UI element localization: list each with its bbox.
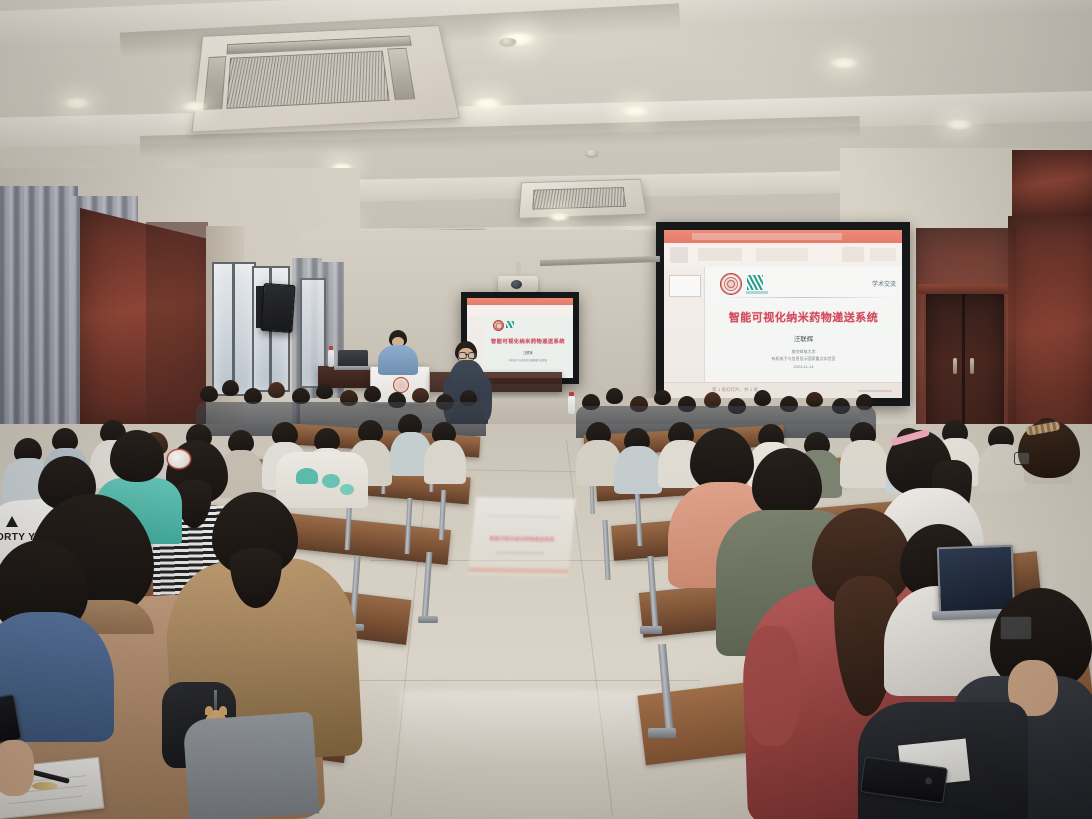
- downlight-3: [180, 100, 208, 113]
- main-projection-screen[interactable]: 学术交流 智能可视化纳米药物递送系统 汪联辉 南京邮电大学 有机电子与信息显示国…: [664, 230, 902, 398]
- ac-vane-top: [226, 36, 411, 55]
- side-table-bottle: [568, 396, 575, 414]
- side-slide-title: 智能可视化纳米药物递送系统: [483, 338, 573, 345]
- ac-grille-front: [226, 51, 389, 109]
- audience-red-sweater-arm: [744, 626, 800, 746]
- side-ppt-ribbon: [467, 298, 573, 305]
- lecture-hall-photo: 学术交流 智能可视化纳米药物递送系统 汪联辉 南京邮电大学 有机电子与信息显示国…: [0, 0, 1092, 819]
- print-shirt-graphic-1: [296, 468, 318, 484]
- downlight-6: [828, 56, 860, 70]
- phone-camera-icon: [925, 777, 933, 785]
- institute-logo-icon: [747, 275, 763, 290]
- standing-speaker-glasses-icon-2: [468, 352, 477, 359]
- charm-ear-right: [219, 706, 227, 715]
- audience-teal-girl-head: [110, 430, 164, 482]
- floor-gloss-highlight: [400, 690, 660, 770]
- downlight-2: [62, 96, 92, 110]
- reflection-subtext: [496, 552, 544, 554]
- audience-hair-scrunchie: [168, 450, 190, 468]
- gray-cloth-on-seat: [183, 712, 320, 819]
- projector-lens-icon: [511, 280, 522, 289]
- ppt-toolbar[interactable]: [664, 243, 902, 268]
- reflection-slide-title: 智能可视化纳米药物递送系统: [471, 535, 572, 544]
- audience-braid-glasses-icon: [1014, 452, 1030, 465]
- ppt-slide-thumbnail-pane[interactable]: [664, 267, 705, 382]
- side-projection-screen[interactable]: 智能可视化纳米药物递送系统 汪联辉 有机电子与信息显示国家重点实验室: [467, 298, 573, 378]
- ppt-slide-thumbnail-1[interactable]: [669, 275, 701, 297]
- floor-reflection-of-slide: 智能可视化纳米药物递送系统: [468, 497, 576, 577]
- ppt-toolbar-group-2: [698, 248, 742, 261]
- downlight-7: [944, 118, 974, 131]
- side-ppt-toolbar: [467, 305, 573, 316]
- floor-tile-line-5: [340, 680, 700, 681]
- presenter-at-podium-body: [378, 345, 418, 375]
- side-slide-affiliation: 有机电子与信息显示国家重点实验室: [483, 358, 573, 362]
- ppt-tab-strip[interactable]: [692, 233, 842, 240]
- door-handle-left: [953, 358, 957, 374]
- wall-mounted-speaker: [260, 283, 295, 333]
- ppt-toolbar-group-4: [842, 247, 864, 262]
- tee-triangle-logo-icon: [6, 516, 18, 527]
- hand-holding-phone: [0, 740, 34, 796]
- reflection-ribbon: [468, 567, 568, 574]
- slide-corner-label: 学术交流: [872, 279, 896, 288]
- audience-body-rm2: [614, 446, 662, 494]
- ppt-toolbar-group-5: [870, 248, 896, 261]
- seat-foot-l2: [418, 616, 438, 623]
- downlight-4: [470, 96, 504, 111]
- side-university-seal-icon: [493, 320, 504, 331]
- institute-logo-text: [746, 291, 768, 294]
- ppt-slide-canvas: 学术交流 智能可视化纳米药物递送系统 汪联辉 南京邮电大学 有机电子与信息显示国…: [705, 267, 902, 382]
- ceiling-mounted-projector: [498, 276, 538, 292]
- ppt-ribbon: [664, 230, 902, 243]
- side-bottle-cap: [569, 392, 574, 396]
- seat-foot-r2: [648, 728, 676, 738]
- right-wood-panel-upper: [1012, 150, 1092, 220]
- downlight-10: [548, 212, 570, 222]
- print-shirt-graphic-2: [322, 474, 340, 488]
- audience-body-rm7: [840, 440, 888, 488]
- slide-affiliation-1: 南京邮电大学: [705, 349, 902, 355]
- notebook-line-3: [8, 796, 82, 805]
- university-seal-icon: [720, 273, 742, 295]
- slide-presenter-name: 汪联辉: [705, 333, 902, 343]
- side-institute-logo-icon: [506, 321, 514, 328]
- ceiling-cassette-ac-front: [191, 25, 460, 132]
- standing-speaker-glasses-bridge: [465, 354, 468, 355]
- slide-affiliation-2: 有机电子与信息显示国家重点实验室: [705, 356, 902, 362]
- right-door-frame: [918, 284, 1008, 294]
- ppt-toolbar-group-3: [756, 248, 808, 261]
- charm-chain: [214, 690, 217, 712]
- ac-vane-left: [203, 56, 226, 110]
- ceiling-cassette-ac-rear: [518, 179, 646, 219]
- smoke-detector-1: [500, 38, 516, 45]
- ac-grille-rear: [532, 187, 626, 210]
- downlight-5: [620, 104, 650, 118]
- reflection-header-line: [488, 515, 560, 517]
- side-slide-presenter: 汪联辉: [483, 350, 573, 355]
- audience-body-lm11: [424, 440, 466, 484]
- print-shirt-graphic-3: [340, 484, 354, 495]
- stage-water-bottle: [328, 350, 334, 367]
- audience-glasses-man-glasses-icon: [1000, 616, 1032, 640]
- slide-header-divider: [717, 297, 893, 298]
- slide-title: 智能可视化纳米药物递送系统: [705, 309, 902, 325]
- door-handle-right: [970, 358, 974, 374]
- slide-date: 2024-11-14: [705, 364, 902, 369]
- ppt-toolbar-group-1: [670, 247, 688, 263]
- presenter-laptop-base: [334, 366, 372, 370]
- bottle-cap: [329, 346, 333, 350]
- charm-ear-left: [205, 706, 213, 715]
- smoke-detector-2: [586, 150, 598, 156]
- ac-vane-right: [387, 48, 415, 101]
- seat-foot-r1: [640, 626, 662, 634]
- bracelet: [32, 782, 58, 790]
